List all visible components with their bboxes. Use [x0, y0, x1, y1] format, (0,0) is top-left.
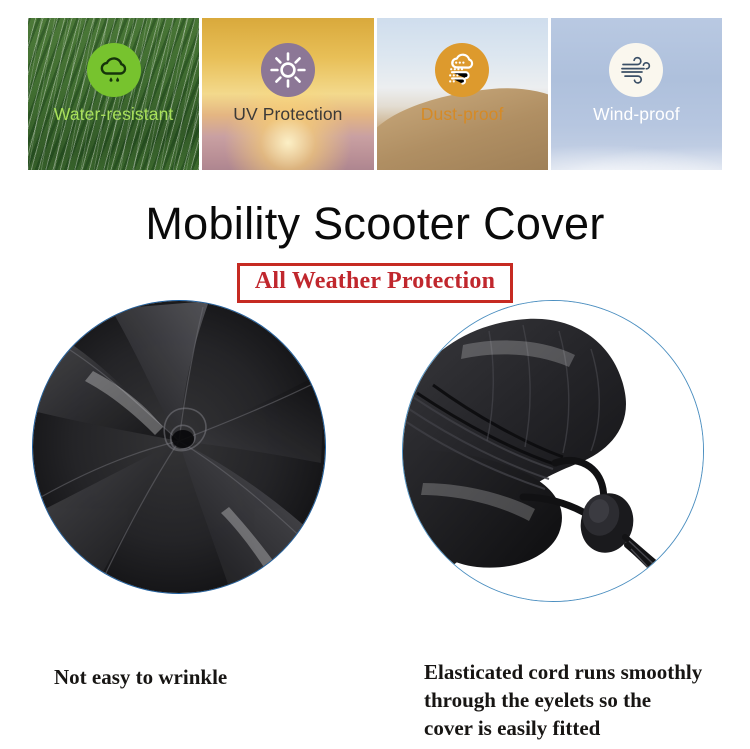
rain-cloud-icon: [87, 43, 141, 97]
feature-panel-dust-proof: Dust-proof: [377, 18, 548, 170]
page-title: Mobility Scooter Cover: [0, 198, 750, 250]
fabric-swirl-photo: [32, 300, 326, 594]
drawstring-cord-photo: [402, 300, 704, 602]
caption-left: Not easy to wrinkle: [54, 664, 227, 692]
weather-feature-banner: Water-resistant: [28, 18, 722, 170]
subtitle-container: All Weather Protection: [0, 263, 750, 303]
feature-label-uv-protection: UV Protection: [233, 104, 342, 125]
caption-right: Elasticated cord runs smoothly through t…: [424, 659, 724, 743]
feature-label-dust-proof: Dust-proof: [421, 104, 504, 125]
feature-panel-water-resistant: Water-resistant: [28, 18, 199, 170]
feature-label-wind-proof: Wind-proof: [593, 104, 680, 125]
caption-right-line-1: Elasticated cord runs smoothly: [424, 659, 724, 687]
feature-panel-wind-proof: Wind-proof: [551, 18, 722, 170]
dust-cloud-icon: [435, 43, 489, 97]
wind-icon: [609, 43, 663, 97]
feature-label-water-resistant: Water-resistant: [54, 104, 174, 125]
caption-right-line-2: through the eyelets so the: [424, 687, 724, 715]
subtitle-badge: All Weather Protection: [237, 263, 513, 303]
caption-right-line-3: cover is easily fitted: [424, 715, 724, 743]
feature-panel-uv-protection: UV Protection: [202, 18, 373, 170]
product-feature-image: Water-resistant: [0, 0, 750, 749]
sun-icon: [261, 43, 315, 97]
